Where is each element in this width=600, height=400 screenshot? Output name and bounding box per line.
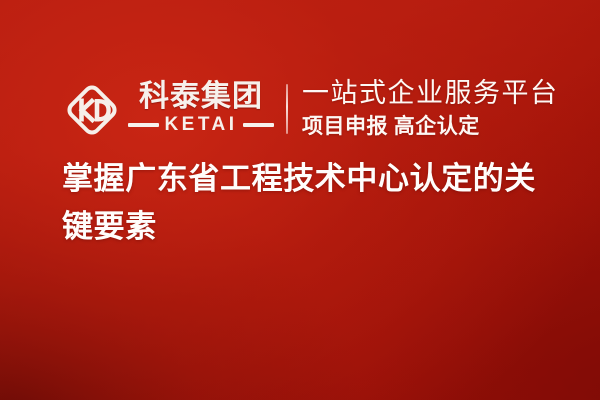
slogan-block: 一站式企业服务平台 项目申报 高企认定 xyxy=(302,77,559,139)
vertical-divider-icon xyxy=(286,84,288,134)
logo-kd-monogram-icon xyxy=(64,82,120,138)
slogan-primary: 一站式企业服务平台 xyxy=(302,77,559,110)
wordmark-rule-left-icon xyxy=(128,123,159,127)
slogan-secondary: 项目申报 高企认定 xyxy=(302,114,559,139)
wordmark-latin: KETAI xyxy=(164,115,237,134)
ketai-diamond-monogram-icon xyxy=(64,82,120,138)
ketai-wordmark: 科泰集团 KETAI xyxy=(126,80,276,134)
banner-headline: 掌握广东省工程技术中心认定的关键要素 xyxy=(62,155,554,251)
banner-header-band: 科泰集团 KETAI 一站式企业服务平台 项目申报 高企认定 xyxy=(0,36,600,112)
wordmark-latin-row: KETAI xyxy=(126,115,276,134)
wordmark-chinese: 科泰集团 xyxy=(126,80,276,114)
wordmark-rule-right-icon xyxy=(243,123,274,127)
promo-banner: 科泰集团 KETAI 一站式企业服务平台 项目申报 高企认定 掌握广东省工程技术… xyxy=(0,0,600,400)
